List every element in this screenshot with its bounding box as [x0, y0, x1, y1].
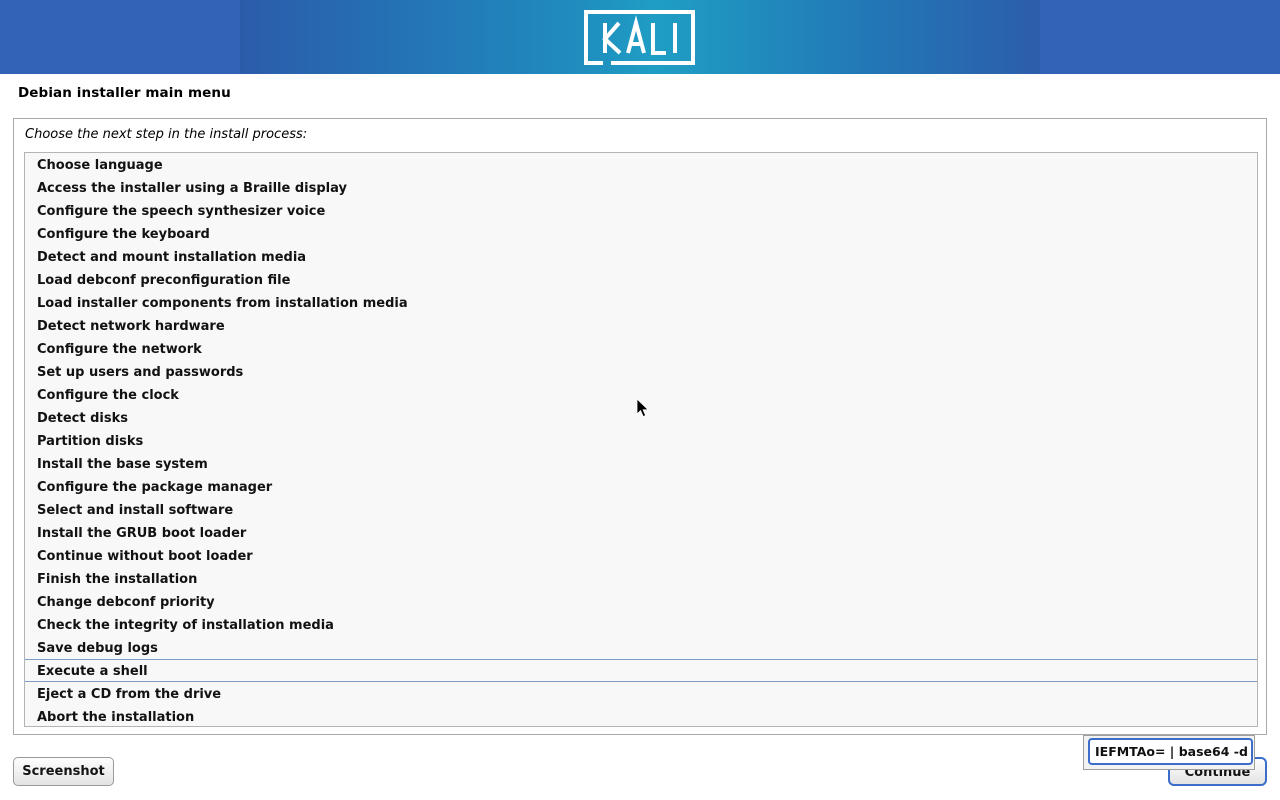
list-item[interactable]: Configure the keyboard — [25, 222, 1257, 245]
kali-banner — [0, 0, 1280, 74]
list-item[interactable]: Finish the installation — [25, 567, 1257, 590]
list-item[interactable]: Partition disks — [25, 429, 1257, 452]
panel-prompt: Choose the next step in the install proc… — [25, 127, 307, 142]
list-item[interactable]: Detect disks — [25, 406, 1257, 429]
command-input[interactable]: IEFMTAo= | base64 -d | — [1088, 738, 1253, 765]
list-item[interactable]: Install the base system — [25, 452, 1257, 475]
list-item[interactable]: Access the installer using a Braille dis… — [25, 176, 1257, 199]
list-item[interactable]: Detect and mount installation media — [25, 245, 1257, 268]
list-item[interactable]: Save debug logs — [25, 636, 1257, 659]
list-item[interactable]: Load debconf preconfiguration file — [25, 268, 1257, 291]
list-item[interactable]: Continue without boot loader — [25, 544, 1257, 567]
page-title: Debian installer main menu — [18, 85, 231, 101]
installer-screen: Debian installer main menu Choose the ne… — [0, 0, 1280, 800]
list-item[interactable]: Configure the network — [25, 337, 1257, 360]
list-item[interactable]: Install the GRUB boot loader — [25, 521, 1257, 544]
install-step-list[interactable]: Choose languageAccess the installer usin… — [24, 152, 1258, 727]
kali-logo-icon — [583, 9, 696, 66]
list-item[interactable]: Select and install software — [25, 498, 1257, 521]
list-item[interactable]: Configure the package manager — [25, 475, 1257, 498]
list-item[interactable]: Configure the speech synthesizer voice — [25, 199, 1257, 222]
list-item[interactable]: Eject a CD from the drive — [25, 682, 1257, 705]
list-item[interactable]: Load installer components from installat… — [25, 291, 1257, 314]
list-item[interactable]: Set up users and passwords — [25, 360, 1257, 383]
screenshot-button[interactable]: Screenshot — [13, 757, 114, 786]
list-item[interactable]: Detect network hardware — [25, 314, 1257, 337]
list-item[interactable]: Choose language — [25, 153, 1257, 176]
main-panel: Choose the next step in the install proc… — [13, 118, 1267, 735]
list-item[interactable]: Abort the installation — [25, 705, 1257, 727]
list-item[interactable]: Check the integrity of installation medi… — [25, 613, 1257, 636]
list-item[interactable]: Execute a shell — [25, 659, 1257, 682]
command-input-value: IEFMTAo= | base64 -d | — [1095, 744, 1253, 759]
list-item[interactable]: Configure the clock — [25, 383, 1257, 406]
list-item[interactable]: Change debconf priority — [25, 590, 1257, 613]
